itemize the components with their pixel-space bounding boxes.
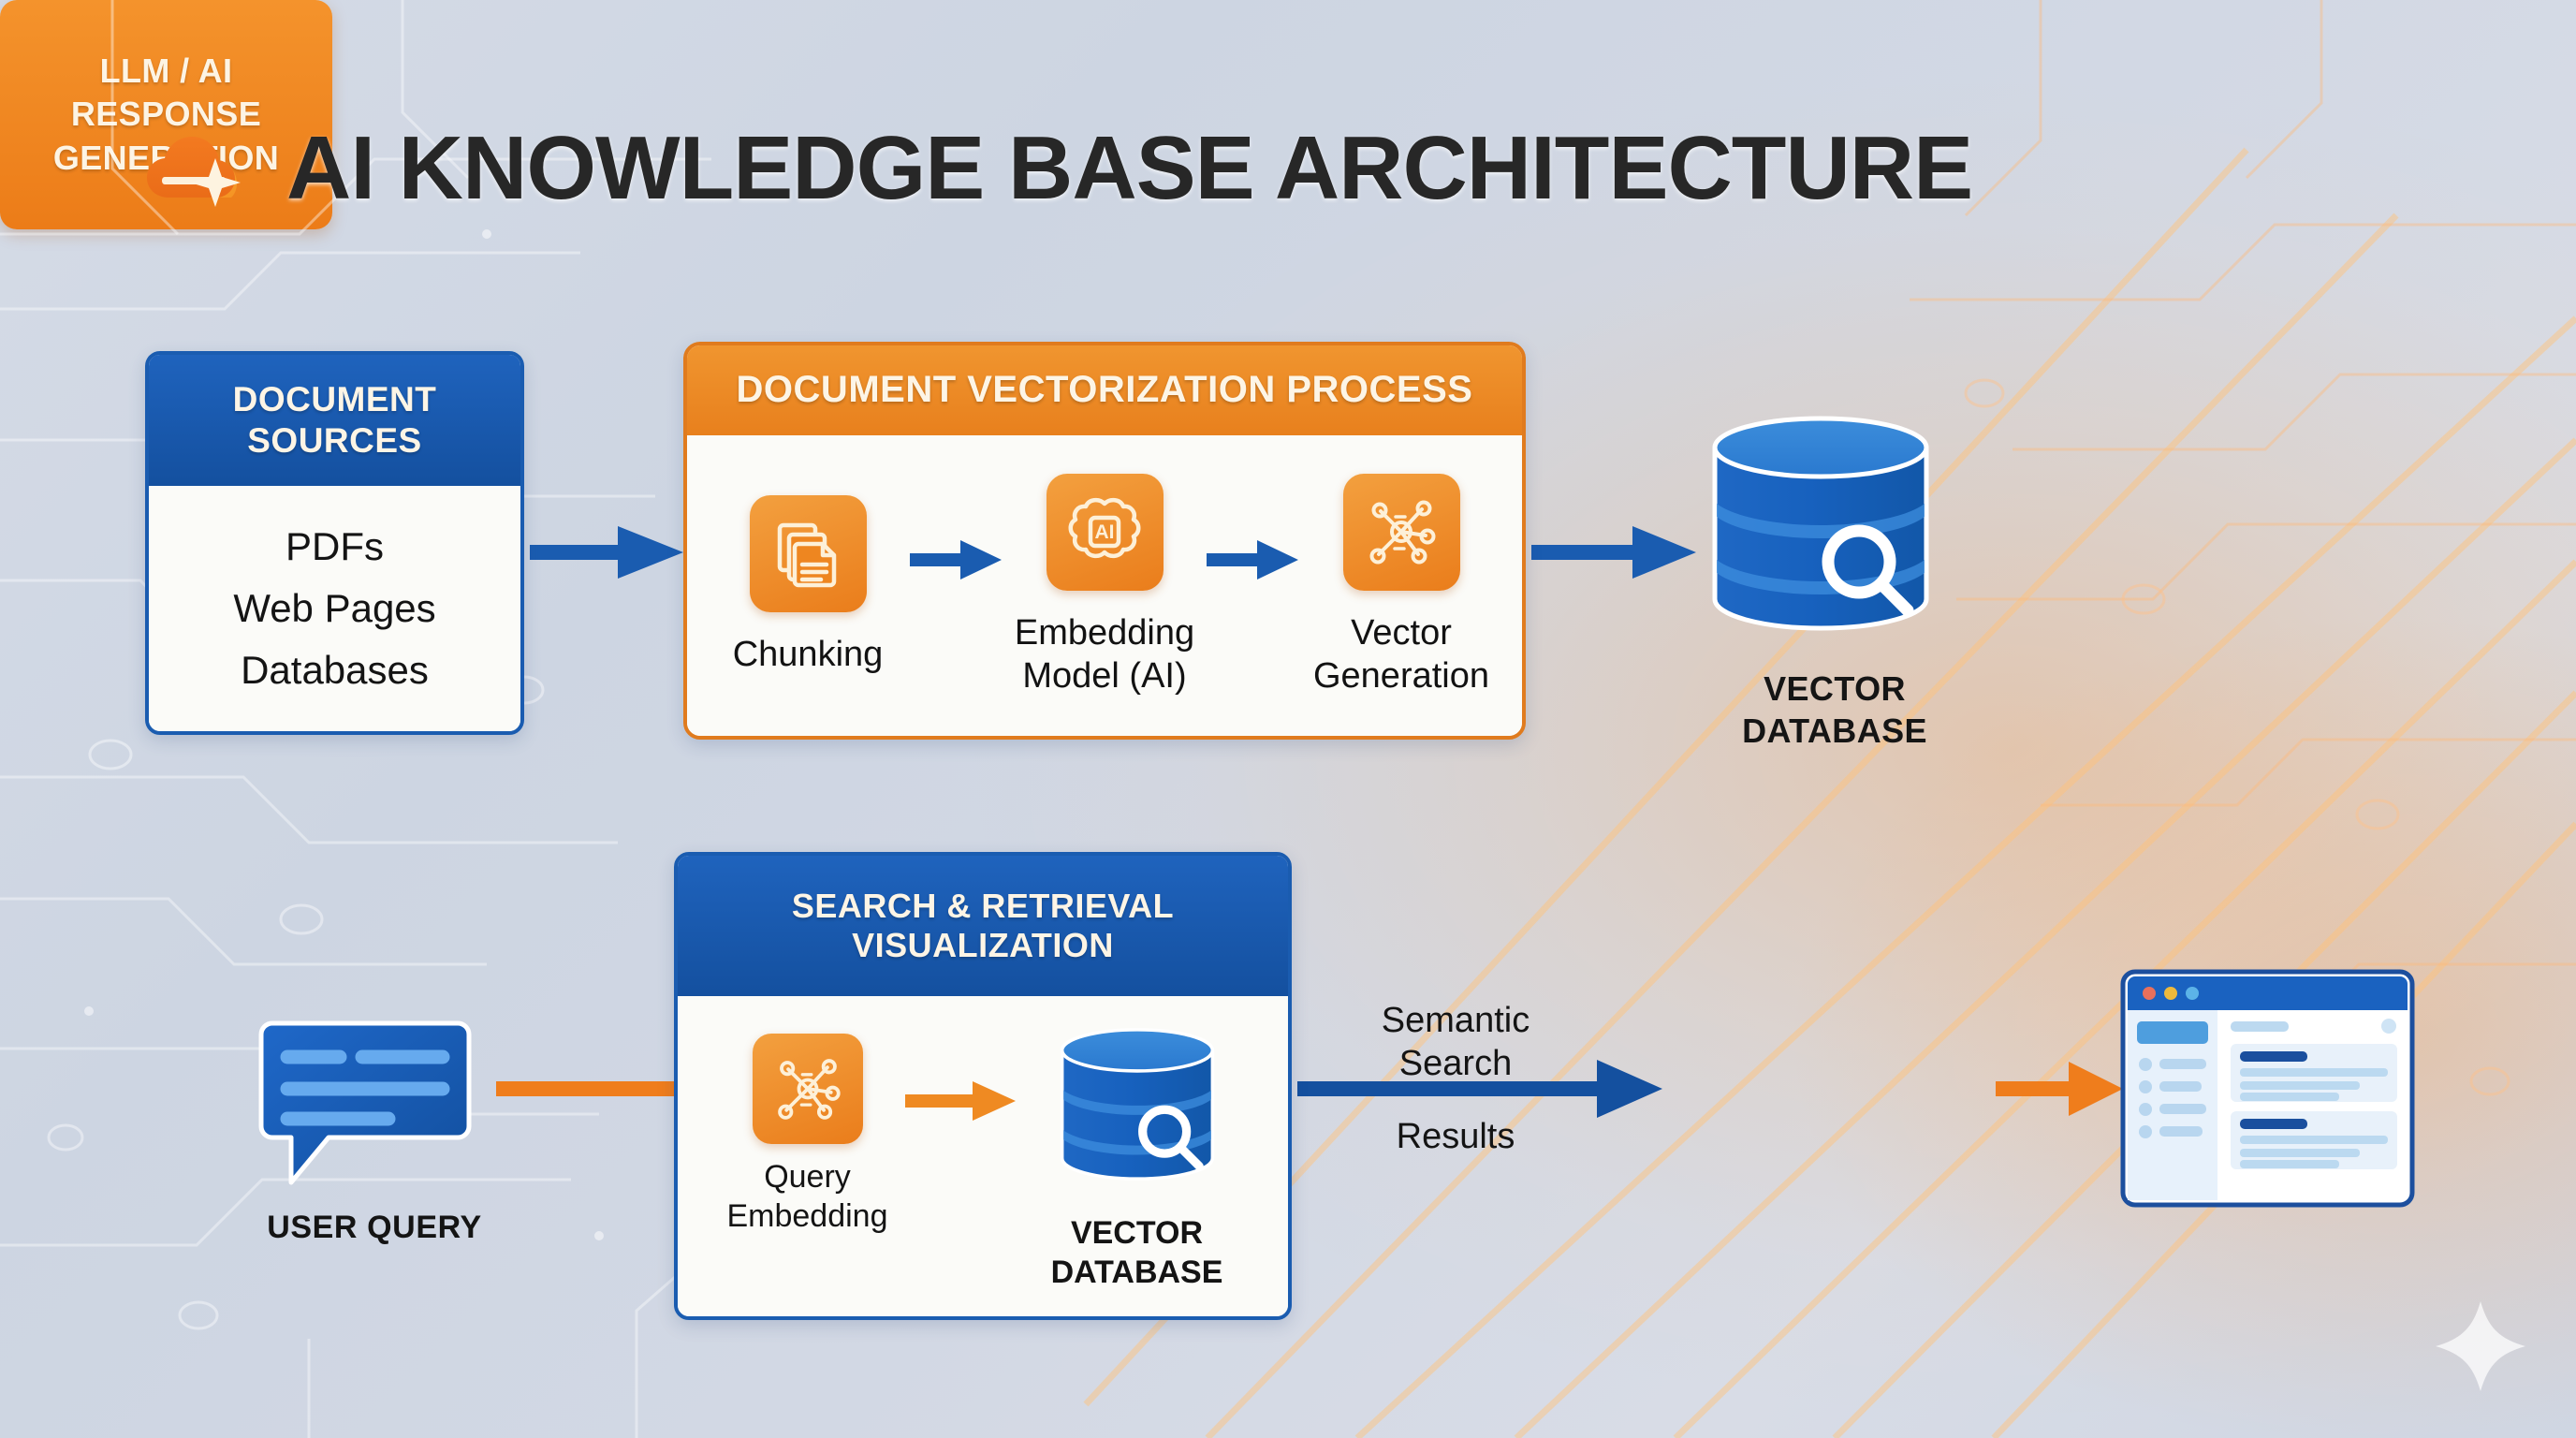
document-sources-card: DOCUMENT SOURCES PDFs Web Pages Database… [145, 351, 524, 735]
ai-brain-chip-icon: AI [1046, 474, 1164, 591]
semantic-search-label: Semantic Search [1348, 1000, 1563, 1085]
vector-database-caption: VECTOR DATABASE [1694, 668, 1975, 752]
page-title: AI KNOWLEDGE BASE ARCHITECTURE [286, 117, 1972, 220]
speech-bubble-icon [248, 1016, 501, 1189]
search-retrieval-card: SEARCH & RETRIEVAL VISUALIZATION Query E… [674, 852, 1292, 1320]
search-vector-database-node: VECTOR DATABASE [1017, 1013, 1256, 1292]
query-embedding-label: Query Embedding [710, 1157, 905, 1236]
browser-window-mockup-icon [2120, 969, 2415, 1208]
list-item: Web Pages [233, 586, 435, 631]
search-retrieval-title: SEARCH & RETRIEVAL VISUALIZATION [678, 856, 1288, 996]
step-label: Chunking [733, 633, 884, 676]
list-item: Databases [241, 648, 429, 693]
page-header: AI KNOWLEDGE BASE ARCHITECTURE [140, 117, 1972, 220]
database-cylinder-search-icon [1047, 1013, 1227, 1200]
search-retrieval-body: Query Embedding VECTOR DATAB [678, 996, 1288, 1320]
arrow-embedding-to-vector [1207, 538, 1300, 581]
stacked-documents-icon [750, 495, 867, 612]
user-query-caption: USER QUERY [248, 1210, 501, 1246]
search-vector-database-label: VECTOR DATABASE [1017, 1213, 1256, 1292]
vectorization-title: DOCUMENT VECTORIZATION PROCESS [687, 345, 1522, 435]
step-chunking: Chunking [719, 495, 897, 676]
svg-text:AI: AI [1095, 521, 1115, 543]
network-nodes-icon [753, 1034, 863, 1144]
results-label: Results [1348, 1116, 1563, 1159]
document-vectorization-card: DOCUMENT VECTORIZATION PROCESS Chunking [683, 342, 1526, 740]
query-embedding-node: Query Embedding [710, 1034, 905, 1236]
step-label: Vector Generation [1312, 611, 1490, 698]
cloudflare-cloud-icon [140, 126, 260, 211]
step-label: Embedding Model (AI) [1015, 611, 1194, 698]
list-item: PDFs [285, 524, 384, 569]
database-cylinder-search-icon [1694, 403, 1975, 651]
arrow-query-to-db [905, 1078, 1017, 1123]
vectorization-steps: Chunking AI Embedding Model (AI) [687, 435, 1522, 736]
network-nodes-icon [1343, 474, 1460, 591]
document-sources-list: PDFs Web Pages Databases [149, 486, 520, 731]
document-sources-title: DOCUMENT SOURCES [149, 355, 520, 486]
arrow-chunking-to-embedding [910, 538, 1003, 581]
step-embedding-model: AI Embedding Model (AI) [1016, 474, 1193, 698]
step-vector-generation: Vector Generation [1312, 474, 1490, 698]
vector-database-node: VECTOR DATABASE [1694, 403, 1975, 752]
user-query-node: USER QUERY [248, 1016, 501, 1246]
